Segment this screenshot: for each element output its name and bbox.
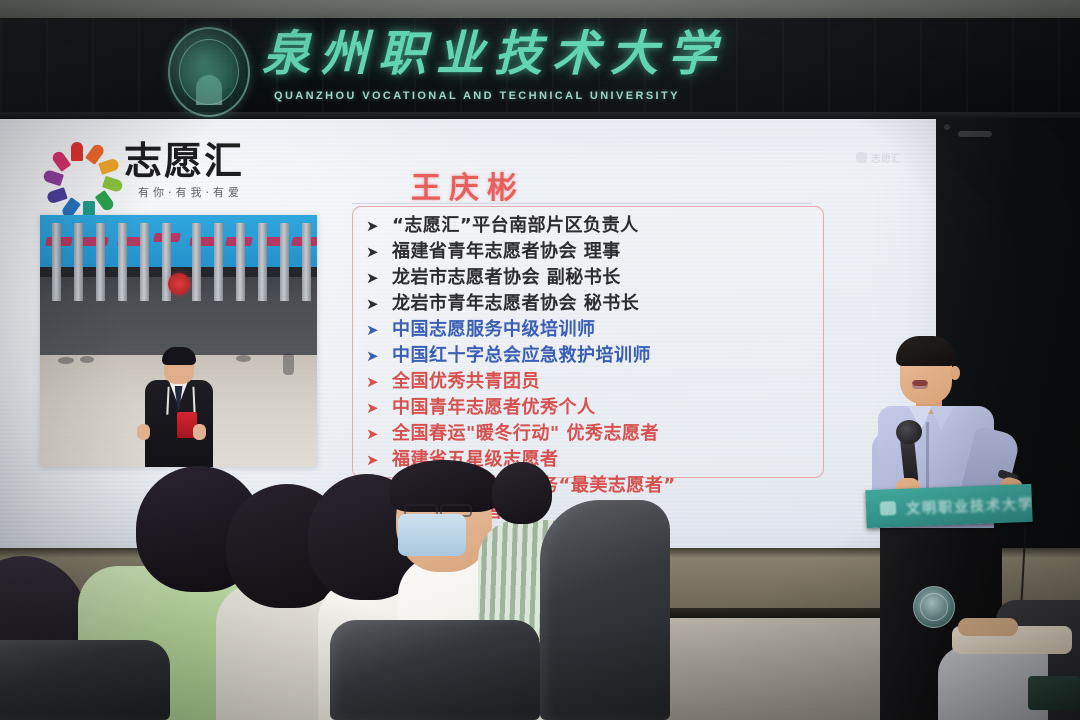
bullet-item: ➤龙岩市志愿者协会 副秘书长: [366, 265, 826, 291]
photo-subject: [135, 350, 223, 467]
slide-title: 王庆彬: [0, 163, 936, 207]
building-column: [214, 223, 223, 301]
bullet-item: ➤中国红十字总会应急救护培训师: [366, 343, 826, 369]
bullet-item: ➤龙岩市青年志愿者协会 秘书长: [366, 291, 826, 317]
lecture-hall-photo: 泉州职业技术大学 QUANZHOU VOCATIONAL AND TECHNIC…: [0, 0, 1080, 720]
bullet-marker-icon: ➤: [366, 421, 392, 447]
background-figure: [236, 355, 251, 362]
dark-green-folder: [1028, 676, 1080, 710]
bullet-text: 中国红十字总会应急救护培训师: [392, 343, 651, 369]
background-figure: [58, 357, 74, 364]
bullet-text: 福建省青年志愿者协会 理事: [392, 239, 621, 265]
bullet-text: “志愿汇”平台南部片区负责人: [392, 213, 639, 239]
seat-back: [0, 640, 170, 720]
bullet-item: ➤中国青年志愿者优秀个人: [366, 395, 826, 421]
bullet-item: ➤“志愿汇”平台南部片区负责人: [366, 213, 826, 239]
hand: [137, 424, 150, 440]
bullet-item: ➤福建省青年志愿者协会 理事: [366, 239, 826, 265]
bullet-marker-icon: ➤: [366, 343, 392, 369]
background-figure: [80, 356, 94, 363]
bullet-item: ➤全国优秀共青团员: [366, 369, 826, 395]
building-column: [192, 223, 201, 301]
bullet-marker-icon: ➤: [366, 395, 392, 421]
wall-vent: [958, 131, 992, 137]
title-divider: [352, 203, 812, 204]
emblem-arch: [196, 75, 222, 105]
hair: [896, 336, 956, 366]
bullet-text: 全国春运"暖冬行动" 优秀志愿者: [392, 421, 659, 447]
podium-sign-text: 文明职业技术大学: [906, 494, 1033, 519]
bullet-item: ➤中国志愿服务中级培训师: [366, 317, 826, 343]
watermark-icon: [856, 152, 867, 163]
face-mask: [398, 514, 466, 556]
building-column: [96, 223, 105, 301]
lanyard: [166, 387, 195, 415]
building-column: [74, 223, 83, 301]
bullet-marker-icon: ➤: [366, 239, 392, 265]
bullet-text: 龙岩市青年志愿者协会 秘书长: [392, 291, 639, 317]
podium-sign-emblem-icon: [880, 501, 897, 516]
building-column: [140, 223, 149, 301]
head: [492, 462, 552, 524]
building-column: [52, 223, 61, 301]
ear: [950, 366, 960, 380]
hand: [193, 424, 206, 440]
slide-watermark: 志愿汇: [856, 150, 918, 164]
bullet-marker-icon: ➤: [366, 291, 392, 317]
university-emblem-icon: [168, 27, 250, 117]
bullet-marker-icon: ➤: [366, 369, 392, 395]
bullet-text: 全国优秀共青团员: [392, 369, 540, 395]
university-name-cn: 泉州职业技术大学: [262, 30, 726, 78]
watermark-text: 志愿汇: [871, 150, 901, 165]
building-column: [118, 223, 127, 301]
wall-fixture-dot: [944, 124, 950, 130]
bullet-text: 中国志愿服务中级培训师: [392, 317, 596, 343]
bullet-item: ➤全国春运"暖冬行动" 优秀志愿者: [366, 421, 826, 447]
podium-university-seal-icon: [913, 586, 955, 628]
building-column: [258, 223, 267, 301]
building-column: [236, 223, 245, 301]
seat-back: [330, 620, 540, 720]
bullet-text: 龙岩市志愿者协会 副秘书长: [392, 265, 621, 291]
mouth: [912, 380, 928, 389]
bullet-marker-icon: ➤: [366, 447, 392, 473]
hair: [162, 347, 196, 365]
seat-back: [540, 500, 670, 720]
podium-sign: 文明职业技术大学: [865, 484, 1032, 528]
building-column: [280, 223, 289, 301]
bullet-marker-icon: ➤: [366, 213, 392, 239]
bullet-text: 中国青年志愿者优秀个人: [392, 395, 596, 421]
national-emblem-icon: [168, 273, 190, 295]
bullet-marker-icon: ➤: [366, 265, 392, 291]
bullet-marker-icon: ➤: [366, 317, 392, 343]
building-column: [302, 223, 311, 301]
slide-portrait-photo: [40, 215, 317, 467]
background-figure: [283, 353, 294, 375]
hands: [958, 618, 1018, 636]
university-name-en: QUANZHOU VOCATIONAL AND TECHNICAL UNIVER…: [274, 90, 680, 102]
